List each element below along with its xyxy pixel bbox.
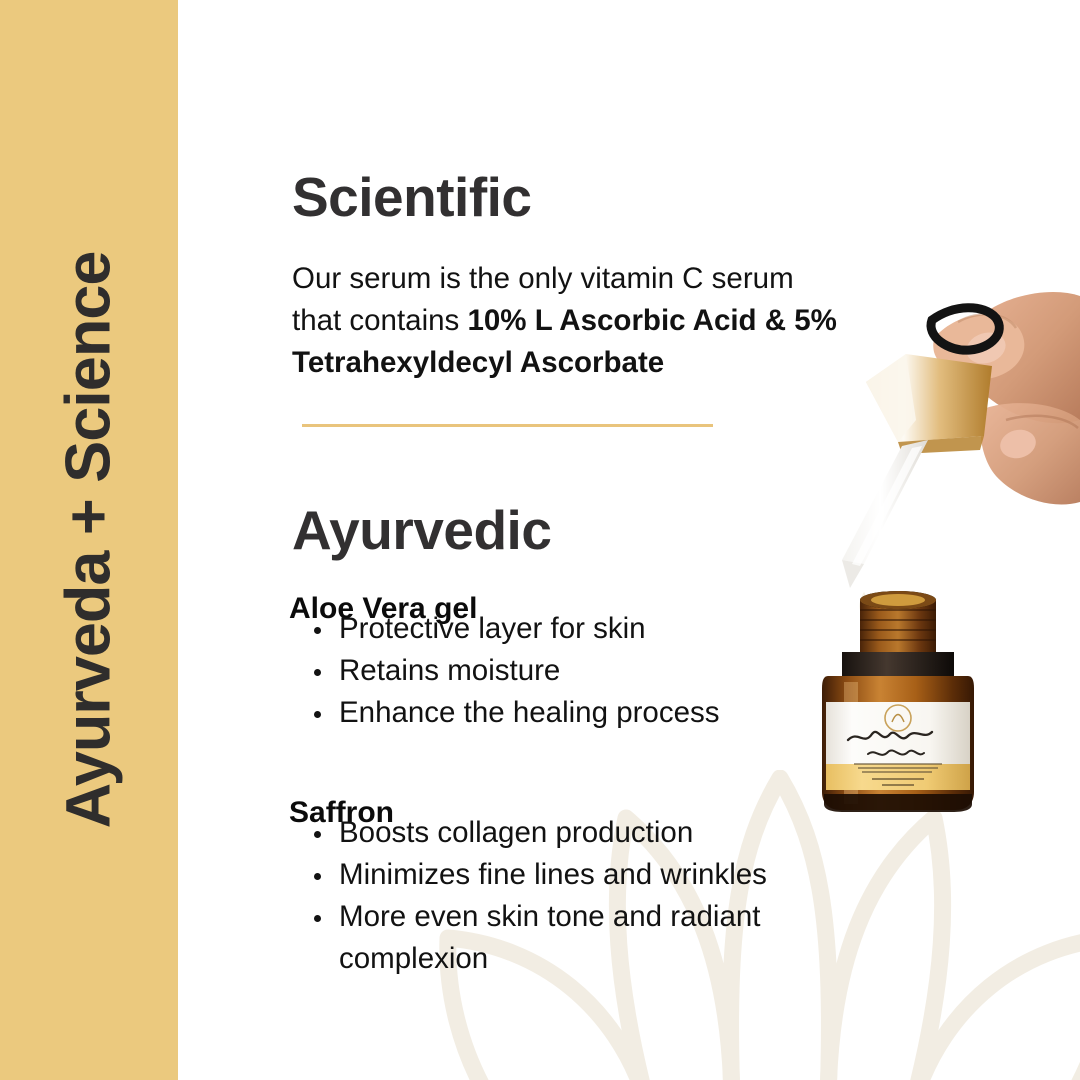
serum-bottle [822,591,974,812]
dropper-cap [866,354,992,454]
list-item: Enhance the healing process [308,692,868,734]
section-heading-ayurvedic: Ayurvedic [292,503,551,558]
bullet-dot-icon [314,873,321,880]
main-content: Scientific Our serum is the only vitamin… [289,0,849,1080]
bullet-dot-icon [314,627,321,634]
dropper-pipette [842,440,928,588]
bullet-dot-icon [314,915,321,922]
list-item-label: Enhance the healing process [339,696,720,729]
bullet-dot-icon [314,711,321,718]
sidebar-gold-band: Ayurveda + Science [0,0,178,1080]
list-item-label: Minimizes fine lines and wrinkles [339,858,767,891]
scientific-paragraph: Our serum is the only vitamin C serum th… [292,258,842,384]
section-divider [302,424,713,427]
list-item: Minimizes fine lines and wrinkles [308,854,868,896]
sidebar-rotated-title: Ayurveda + Science [58,252,121,829]
ingredient-benefits-saffron: Boosts collagen production Minimizes fin… [308,812,868,980]
list-item-label: Retains moisture [339,654,560,687]
list-item-label: Protective layer for skin [339,612,646,645]
list-item: Boosts collagen production [308,812,868,854]
list-item: More even skin tone and radiant complexi… [308,896,868,980]
promo-graphic: Ayurveda + Science Scientific Our serum … [0,0,1080,1080]
ingredient-benefits-aloe-vera-gel: Protective layer for skin Retains moistu… [308,608,868,734]
list-item: Protective layer for skin [308,608,868,650]
list-item: Retains moisture [308,650,868,692]
list-item-label: More even skin tone and radiant complexi… [339,900,760,975]
bullet-dot-icon [314,669,321,676]
section-heading-scientific: Scientific [292,170,532,225]
list-item-label: Boosts collagen production [339,816,693,849]
product-photo [820,270,1080,830]
bullet-dot-icon [314,831,321,838]
